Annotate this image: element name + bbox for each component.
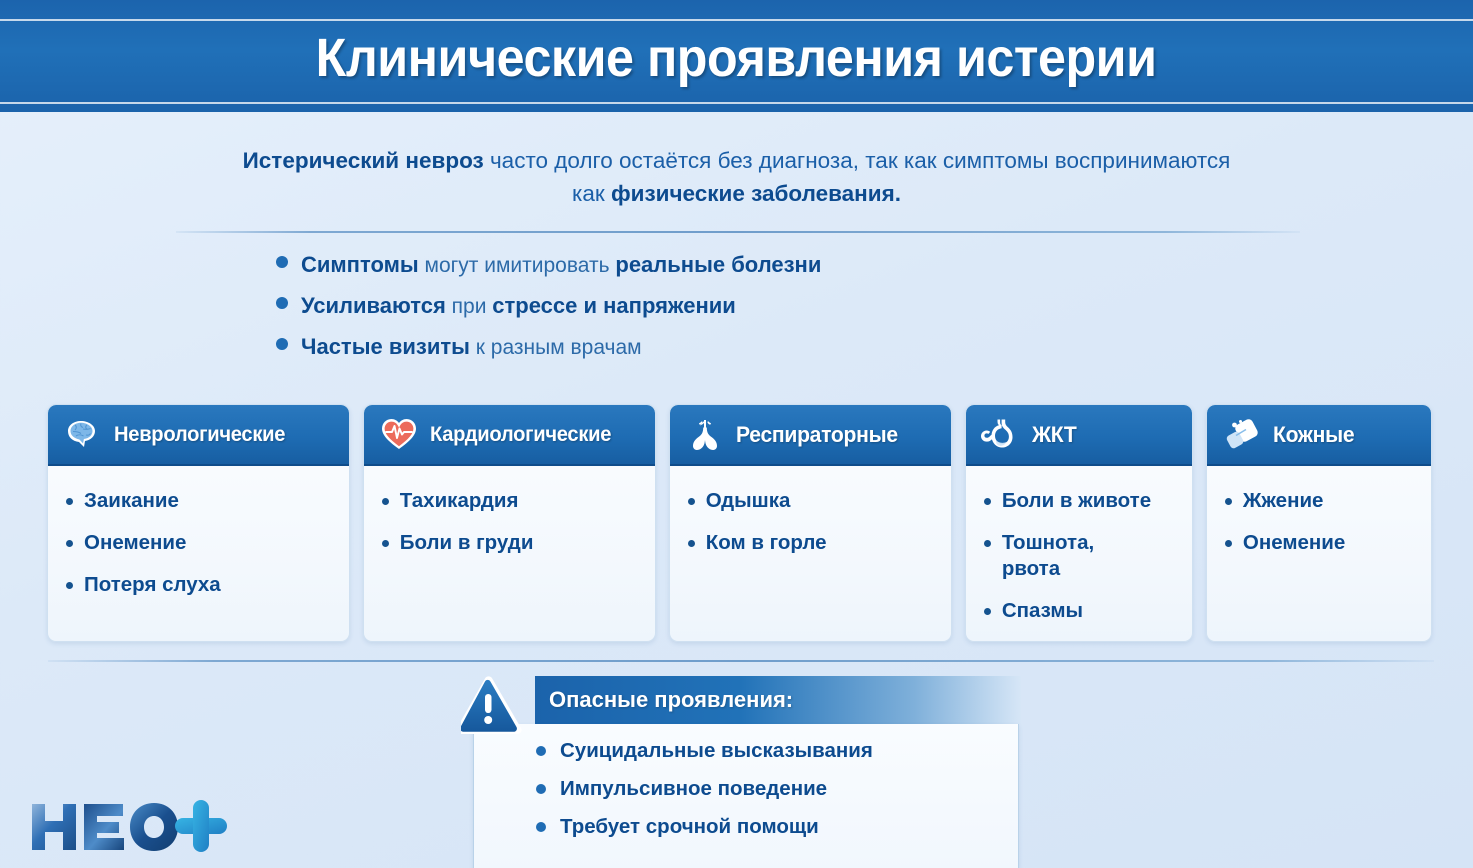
bullet-dot-icon — [1225, 540, 1232, 547]
bullet-dot-icon — [688, 540, 695, 547]
list-item: Потеря слуха — [66, 572, 337, 598]
list-item: Одышка — [688, 488, 939, 514]
danger-signs-title: Опасные проявления: — [549, 687, 793, 713]
bullet-dot-icon — [66, 582, 73, 589]
bullet-dot-icon — [276, 338, 288, 350]
card-neurological: Неврологические Заикание Онемение Потеря… — [47, 404, 350, 642]
intro-line2-prefix: как — [572, 181, 611, 206]
list-item: Онемение — [1225, 530, 1419, 556]
card-body: Одышка Ком в горле — [670, 466, 951, 641]
symptom-category-cards: Неврологические Заикание Онемение Потеря… — [47, 404, 1432, 642]
intro-line-1: Истерический невроз часто долго остаётся… — [0, 144, 1473, 177]
symptom-label: Боли в животе — [1002, 488, 1151, 514]
list-item: Симптомы могут имитировать реальные боле… — [276, 252, 821, 278]
divider-top — [176, 231, 1300, 233]
bullet-dot-icon — [276, 297, 288, 309]
danger-sign-label: Суицидальные высказывания — [560, 739, 873, 763]
symptom-label: Боли в груди — [400, 530, 534, 556]
intro-paragraph: Истерический невроз часто долго остаётся… — [0, 144, 1473, 210]
list-item: Тошнота, рвота — [984, 530, 1180, 582]
card-title: Неврологические — [114, 423, 285, 447]
card-respiratory: Респираторные Одышка Ком в горле — [669, 404, 952, 642]
card-title: Кожные — [1273, 422, 1354, 448]
lungs-icon — [684, 414, 726, 456]
skin-patch-icon — [1221, 414, 1263, 456]
bullet-dot-icon — [66, 498, 73, 505]
key-point-middle: к разным врачам — [470, 336, 642, 359]
card-header: Кожные — [1207, 405, 1431, 466]
key-point-text: Частые визиты к разным врачам — [301, 334, 642, 360]
neo-plus-logo: НЕО+ — [26, 796, 256, 858]
card-body: Жжение Онемение — [1207, 466, 1431, 641]
card-dermatological: Кожные Жжение Онемение — [1206, 404, 1432, 642]
card-body: Тахикардия Боли в груди — [364, 466, 655, 641]
stomach-icon — [980, 414, 1022, 456]
symptom-label: Спазмы — [1002, 598, 1083, 624]
bullet-dot-icon — [382, 498, 389, 505]
card-title: Респираторные — [736, 422, 898, 448]
symptom-label: Ком в горле — [706, 530, 827, 556]
intro-line2-bold: физические заболевания. — [611, 181, 901, 206]
bullet-dot-icon — [536, 822, 546, 832]
warning-triangle-icon — [461, 674, 545, 736]
list-item: Жжение — [1225, 488, 1419, 514]
key-point-text: Симптомы могут имитировать реальные боле… — [301, 252, 821, 278]
symptom-label: Заикание — [84, 488, 179, 514]
list-item: Боли в груди — [382, 530, 643, 556]
list-item: Ком в горле — [688, 530, 939, 556]
symptom-label: Жжение — [1243, 488, 1324, 514]
card-header: Респираторные — [670, 405, 951, 466]
list-item: Боли в животе — [984, 488, 1180, 514]
list-item: Усиливаются при стрессе и напряжении — [276, 293, 821, 319]
list-item: Частые визиты к разным врачам — [276, 334, 821, 360]
list-item: Суицидальные высказывания — [536, 739, 1018, 763]
card-title: Кардиологические — [430, 423, 611, 447]
key-point-bold-lead: Частые визиты — [301, 334, 470, 359]
card-body: Боли в животе Тошнота, рвота Спазмы — [966, 466, 1192, 642]
card-title: ЖКТ — [1032, 422, 1077, 448]
danger-sign-label: Импульсивное поведение — [560, 777, 827, 801]
symptom-label: Тошнота, рвота — [1002, 530, 1094, 582]
header-rule-top — [0, 19, 1473, 21]
bullet-dot-icon — [66, 540, 73, 547]
danger-signs-list: Суицидальные высказывания Импульсивное п… — [473, 724, 1019, 868]
header-rule-bottom — [0, 102, 1473, 104]
card-header: Кардиологические — [364, 405, 655, 466]
card-cardiological: Кардиологические Тахикардия Боли в груди — [363, 404, 656, 642]
bullet-dot-icon — [688, 498, 695, 505]
symptom-label: Онемение — [84, 530, 186, 556]
key-point-middle: могут имитировать — [419, 254, 616, 277]
symptom-label: Онемение — [1243, 530, 1345, 556]
card-body: Заикание Онемение Потеря слуха — [48, 466, 349, 641]
intro-line-2: как физические заболевания. — [0, 177, 1473, 210]
bullet-dot-icon — [984, 498, 991, 505]
bullet-dot-icon — [536, 784, 546, 794]
key-point-bold-tail: стрессе и напряжении — [492, 293, 736, 318]
divider-bottom — [48, 660, 1434, 662]
intro-bold-term: Истерический невроз — [243, 148, 484, 173]
page-header: Клинические проявления истерии — [0, 0, 1473, 112]
list-item: Импульсивное поведение — [536, 777, 1018, 801]
bullet-dot-icon — [536, 746, 546, 756]
key-point-text: Усиливаются при стрессе и напряжении — [301, 293, 736, 319]
list-item: Заикание — [66, 488, 337, 514]
key-point-bold-lead: Усиливаются — [301, 293, 446, 318]
danger-signs-box: Опасные проявления: Суицидальные высказы… — [461, 676, 1021, 868]
bullet-dot-icon — [984, 540, 991, 547]
key-points-list: Симптомы могут имитировать реальные боле… — [276, 252, 821, 375]
heart-pulse-icon — [378, 414, 420, 456]
key-point-bold-tail: реальные болезни — [615, 252, 821, 277]
card-header: Неврологические — [48, 405, 349, 466]
symptom-label: Потеря слуха — [84, 572, 221, 598]
intro-rest-text: часто долго остаётся без диагноза, так к… — [484, 148, 1231, 173]
key-point-middle: при — [446, 295, 492, 318]
bullet-dot-icon — [276, 256, 288, 268]
brain-icon — [62, 414, 104, 456]
symptom-label: Тахикардия — [400, 488, 519, 514]
bullet-dot-icon — [984, 608, 991, 615]
list-item: Требует срочной помощи — [536, 815, 1018, 839]
page-title: Клинические проявления истерии — [316, 27, 1157, 89]
danger-signs-header: Опасные проявления: — [535, 676, 1021, 724]
card-header: ЖКТ — [966, 405, 1192, 466]
symptom-label: Одышка — [706, 488, 791, 514]
bullet-dot-icon — [1225, 498, 1232, 505]
list-item: Спазмы — [984, 598, 1180, 624]
list-item: Онемение — [66, 530, 337, 556]
list-item: Тахикардия — [382, 488, 643, 514]
danger-sign-label: Требует срочной помощи — [560, 815, 819, 839]
card-gastrointestinal: ЖКТ Боли в животе Тошнота, рвота Спазмы — [965, 404, 1193, 642]
key-point-bold-lead: Симптомы — [301, 252, 419, 277]
bullet-dot-icon — [382, 540, 389, 547]
